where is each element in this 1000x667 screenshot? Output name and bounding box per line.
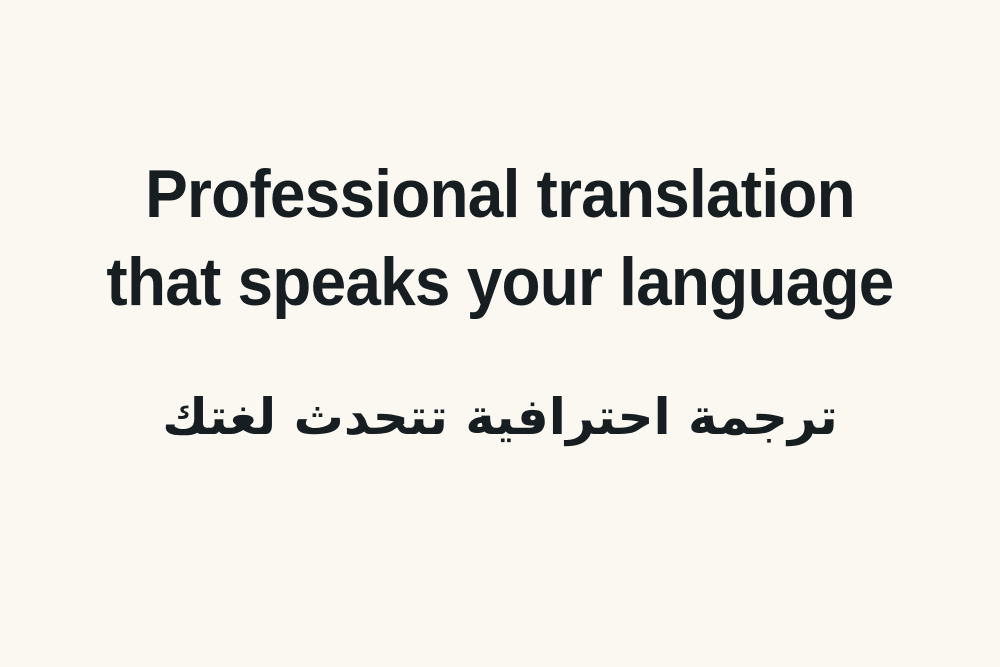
headline-line-2: that speaks your language xyxy=(77,238,923,326)
headline-line-1: Professional translation xyxy=(77,150,923,238)
hero-section: Professional translation that speaks you… xyxy=(0,0,1000,667)
arabic-subtitle: ترجمة احترافية تتحدث لغتك xyxy=(50,382,950,452)
page-title: Professional translation that speaks you… xyxy=(77,150,923,326)
